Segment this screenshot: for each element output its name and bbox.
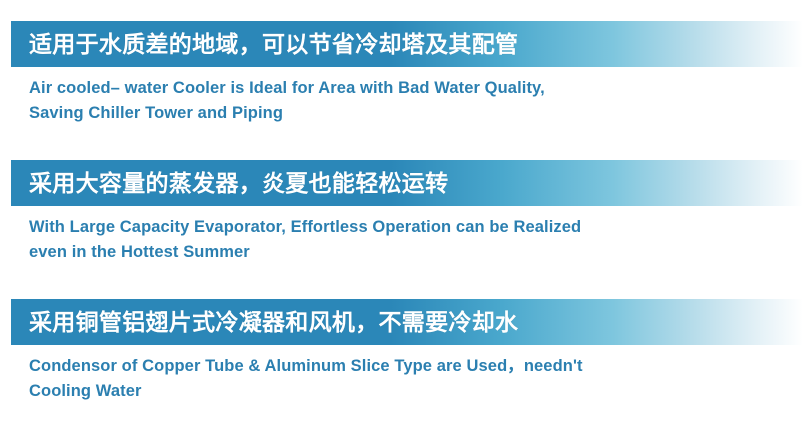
- feature-subtitle-3: Condensor of Copper Tube & Aluminum Slic…: [29, 354, 769, 404]
- feature-subtitle-2: With Large Capacity Evaporator, Effortle…: [29, 215, 769, 265]
- feature-headline-2: 采用大容量的蒸发器，炎夏也能轻松运转: [11, 160, 448, 206]
- headline-bar-3: 采用铜管铝翅片式冷凝器和风机，不需要冷却水: [11, 299, 803, 345]
- feature-subtitle-2-line-1: With Large Capacity Evaporator, Effortle…: [29, 215, 769, 240]
- feature-subtitle-1-line-2: Saving Chiller Tower and Piping: [29, 101, 769, 126]
- feature-subtitle-1-line-1: Air cooled– water Cooler is Ideal for Ar…: [29, 76, 769, 101]
- feature-block-2: 采用大容量的蒸发器，炎夏也能轻松运转 With Large Capacity E…: [0, 160, 811, 265]
- headline-bar-2: 采用大容量的蒸发器，炎夏也能轻松运转: [11, 160, 803, 206]
- feature-headline-1: 适用于水质差的地域，可以节省冷却塔及其配管: [11, 21, 518, 67]
- feature-block-3: 采用铜管铝翅片式冷凝器和风机，不需要冷却水 Condensor of Coppe…: [0, 299, 811, 404]
- feature-subtitle-1: Air cooled– water Cooler is Ideal for Ar…: [29, 76, 769, 126]
- feature-subtitle-3-line-2: Cooling Water: [29, 379, 769, 404]
- feature-list-page: 适用于水质差的地域，可以节省冷却塔及其配管 Air cooled– water …: [0, 0, 811, 422]
- feature-block-1: 适用于水质差的地域，可以节省冷却塔及其配管 Air cooled– water …: [0, 21, 811, 126]
- headline-bar-1: 适用于水质差的地域，可以节省冷却塔及其配管: [11, 21, 803, 67]
- feature-subtitle-3-line-1: Condensor of Copper Tube & Aluminum Slic…: [29, 354, 769, 379]
- feature-subtitle-2-line-2: even in the Hottest Summer: [29, 240, 769, 265]
- feature-headline-3: 采用铜管铝翅片式冷凝器和风机，不需要冷却水: [11, 299, 518, 345]
